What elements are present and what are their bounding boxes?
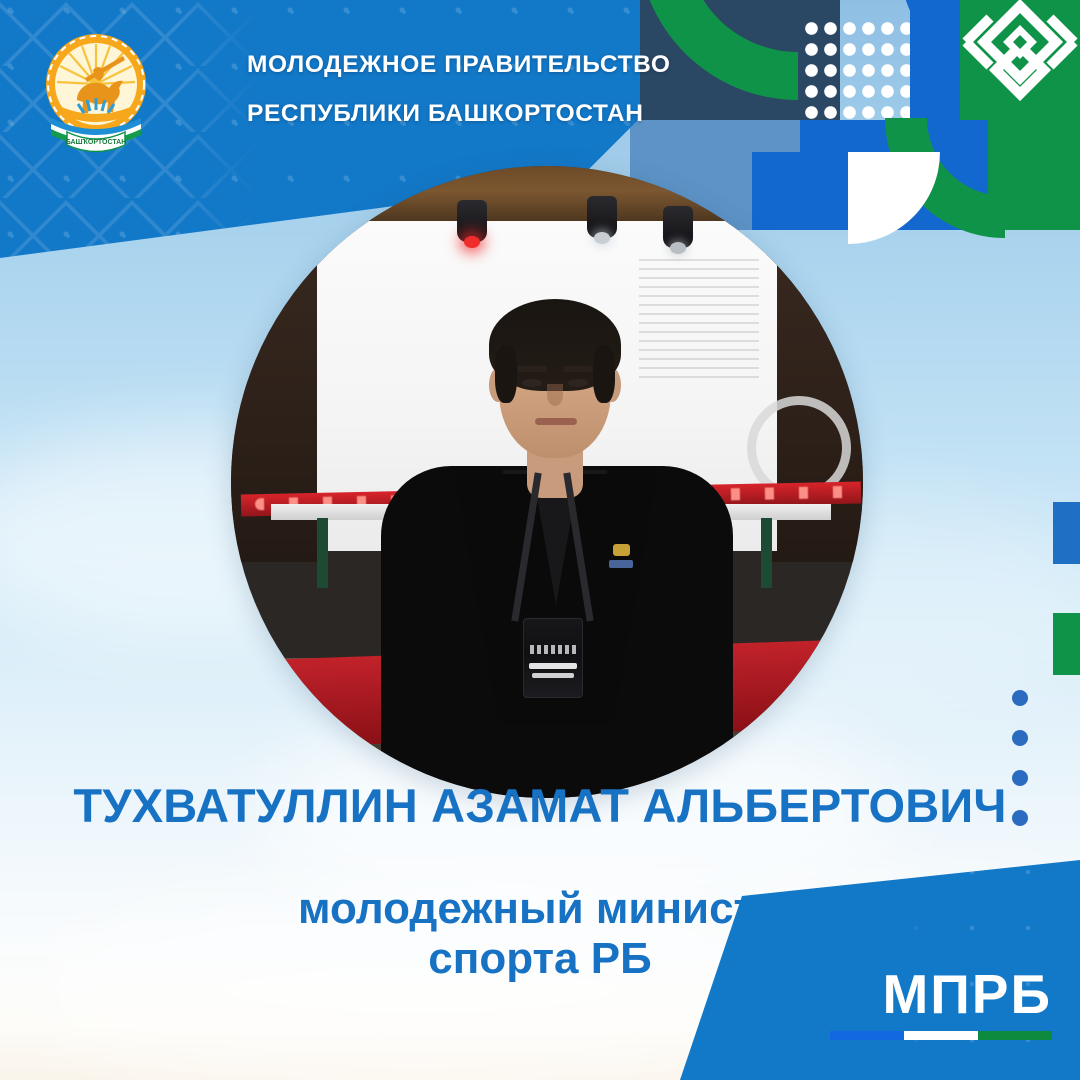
portrait-photo xyxy=(231,166,863,798)
organization-title: МОЛОДЕЖНОЕ ПРАВИТЕЛЬСТВО РЕСПУБЛИКИ БАШК… xyxy=(247,53,867,126)
emblem-ribbon-text: БАШҠОРТОСТАН xyxy=(66,139,127,146)
flag-stripe-white xyxy=(904,1031,978,1040)
flag-bar xyxy=(830,1031,1052,1040)
flag-stripe-green xyxy=(978,1031,1052,1040)
kurai-ornament-icon xyxy=(960,0,1080,120)
decor-square-blue-right xyxy=(1053,502,1080,564)
decor-square-green-right xyxy=(1053,613,1080,675)
org-title-line1: МОЛОДЕЖНОЕ ПРАВИТЕЛЬСТВО xyxy=(247,53,867,78)
org-title-line2: РЕСПУБЛИКИ БАШКОРТОСТАН xyxy=(247,102,867,127)
person-name: ТУХВАТУЛЛИН АЗАМАТ АЛЬБЕРТОВИЧ xyxy=(0,778,1080,833)
kurai-ornament-tile xyxy=(960,0,1080,120)
poster-canvas: БАШҠОРТОСТАН МОЛОДЕЖНОЕ ПРАВИТЕЛЬСТВО РЕ… xyxy=(0,0,1080,1080)
mprb-logo-text: МПРБ xyxy=(882,967,1052,1022)
coat-of-arms-icon: БАШҠОРТОСТАН xyxy=(33,26,159,154)
flag-stripe-blue xyxy=(830,1031,904,1040)
